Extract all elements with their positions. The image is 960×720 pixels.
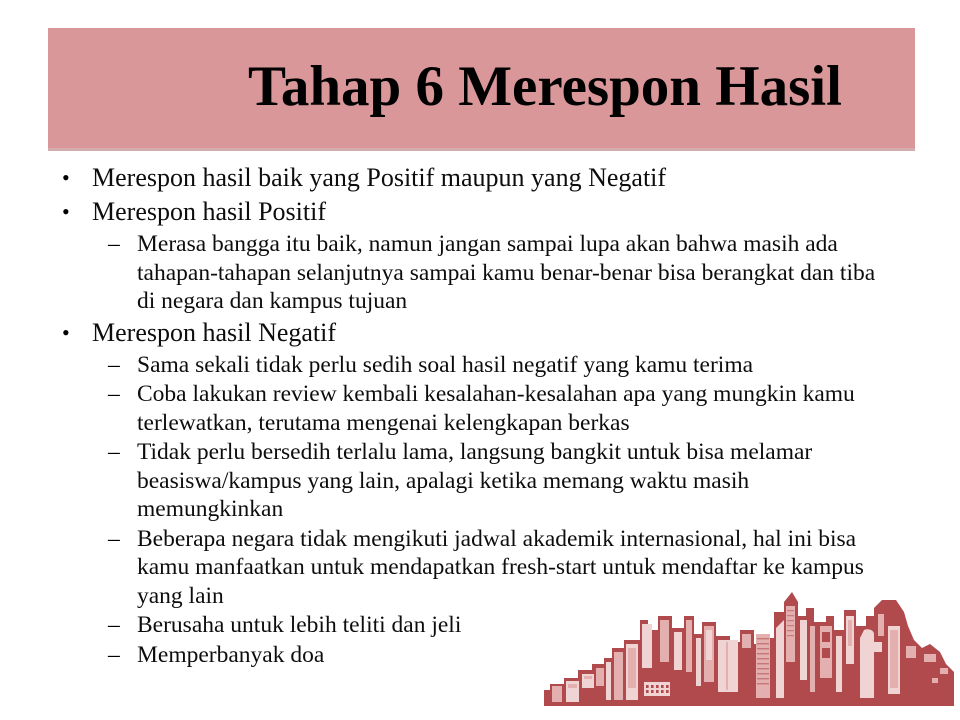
bullet-text: Coba lakukan review kembali kesalahan-ke… [137, 380, 882, 437]
bullet-text: Merasa bangga itu baik, namun jangan sam… [137, 230, 882, 316]
bullet-text: Merespon hasil Positif [92, 196, 960, 228]
list-item: • Merespon hasil baik yang Positif maupu… [0, 162, 960, 194]
dash-bullet-icon: – [108, 438, 126, 467]
title-banner: Tahap 6 Merespon Hasil [48, 28, 915, 148]
bullet-dot-icon: • [62, 196, 76, 228]
list-item: – Tidak perlu bersedih terlalu lama, lan… [0, 438, 960, 524]
dash-bullet-icon: – [108, 351, 126, 380]
bullet-text: Sama sekali tidak perlu sedih soal hasil… [137, 351, 882, 380]
presentation-slide: Tahap 6 Merespon Hasil • Merespon hasil … [0, 0, 960, 720]
list-item: – Coba lakukan review kembali kesalahan-… [0, 380, 960, 437]
list-item: • Merespon hasil Negatif [0, 317, 960, 349]
dash-bullet-icon: – [108, 525, 126, 554]
dash-bullet-icon: – [108, 611, 126, 640]
city-skyline-icon [544, 586, 954, 711]
dash-bullet-icon: – [108, 641, 126, 670]
bullet-dot-icon: • [62, 317, 76, 349]
dash-bullet-icon: – [108, 230, 126, 259]
list-item: – Merasa bangga itu baik, namun jangan s… [0, 230, 960, 316]
bullet-text: Tidak perlu bersedih terlalu lama, langs… [137, 438, 882, 524]
page-title: Tahap 6 Merespon Hasil [175, 57, 915, 117]
list-item: • Merespon hasil Positif [0, 196, 960, 228]
list-item: – Sama sekali tidak perlu sedih soal has… [0, 351, 960, 380]
bullet-text: Merespon hasil Negatif [92, 317, 960, 349]
bullet-text: Merespon hasil baik yang Positif maupun … [92, 162, 960, 194]
bullet-list-level-2: – Merasa bangga itu baik, namun jangan s… [0, 230, 960, 316]
bullet-dot-icon: • [62, 162, 76, 194]
dash-bullet-icon: – [108, 380, 126, 409]
